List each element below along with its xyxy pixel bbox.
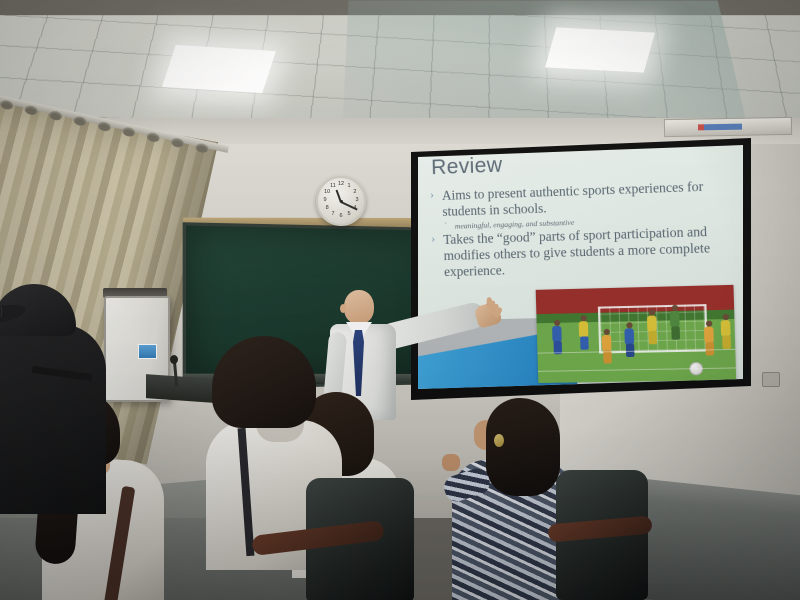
player-jersey bbox=[647, 316, 657, 333]
slide-bullet-2: Takes the “good” parts of sport particip… bbox=[431, 223, 731, 281]
clock-numeral: 3 bbox=[353, 197, 361, 203]
curtain-grommet-icon bbox=[48, 110, 63, 122]
clock-numeral: 11 bbox=[329, 183, 337, 189]
player-legs bbox=[580, 336, 589, 349]
soccer-player-figure bbox=[703, 320, 717, 359]
slide-body: Aims to present authentic sports experie… bbox=[430, 178, 731, 281]
soccer-player-figure bbox=[669, 305, 683, 344]
player-legs bbox=[722, 336, 731, 350]
clock-numeral: 10 bbox=[323, 189, 331, 195]
player-jersey bbox=[704, 327, 714, 344]
clock-numeral: 2 bbox=[351, 189, 359, 195]
player-jersey bbox=[579, 321, 589, 337]
curtain-grommet-icon bbox=[146, 131, 161, 143]
clock-numeral: 5 bbox=[345, 211, 353, 217]
player-jersey bbox=[552, 326, 562, 342]
attendee-hand bbox=[442, 454, 460, 471]
clock-center-pin bbox=[340, 200, 343, 203]
soccer-player-figure bbox=[577, 315, 590, 354]
soccer-player-figure bbox=[623, 322, 637, 361]
manufacturer-logo-icon bbox=[698, 124, 742, 131]
wall-clock: 121234567891011 bbox=[316, 176, 366, 226]
curtain-grommet-icon bbox=[122, 126, 137, 138]
earring-icon bbox=[494, 434, 504, 447]
presenter-ear bbox=[340, 304, 346, 313]
player-legs bbox=[671, 326, 680, 340]
clock-numeral: 6 bbox=[337, 213, 345, 219]
slide-title: Review bbox=[431, 153, 503, 180]
curtain-grommet-icon bbox=[97, 121, 112, 133]
curtain-grommet-icon bbox=[73, 115, 88, 127]
player-jersey bbox=[602, 335, 612, 351]
soccer-player-figure bbox=[646, 309, 660, 348]
curtain-grommet-icon bbox=[195, 142, 210, 154]
presenter-head bbox=[344, 290, 374, 324]
curtain-grommet-icon bbox=[0, 99, 14, 111]
player-jersey bbox=[670, 311, 680, 328]
cabinet-label-sticker bbox=[138, 344, 157, 359]
soccer-player-figure bbox=[719, 314, 733, 353]
soccer-player-figure bbox=[601, 329, 615, 368]
player-jersey bbox=[721, 320, 731, 337]
attendee-body bbox=[0, 324, 106, 514]
player-jersey bbox=[624, 328, 634, 345]
ceiling-light-left bbox=[162, 45, 276, 93]
classroom-presentation-photo: 121234567891011 Review Aims to present a… bbox=[0, 0, 800, 600]
player-legs bbox=[648, 331, 657, 344]
ceiling-light-right bbox=[545, 27, 655, 72]
clock-numeral: 12 bbox=[337, 181, 345, 187]
slide-photo-soccer bbox=[536, 285, 736, 383]
wall-socket-icon bbox=[762, 372, 780, 387]
clock-numeral: 8 bbox=[323, 205, 331, 211]
attendee-hair bbox=[486, 398, 560, 496]
clock-numeral: 7 bbox=[329, 211, 337, 217]
microphone-icon bbox=[170, 355, 178, 364]
pitch-line bbox=[538, 367, 736, 372]
curtain-grommet-icon bbox=[24, 104, 39, 116]
clock-numeral: 9 bbox=[321, 197, 329, 203]
curtain-grommet-icon bbox=[170, 137, 185, 149]
